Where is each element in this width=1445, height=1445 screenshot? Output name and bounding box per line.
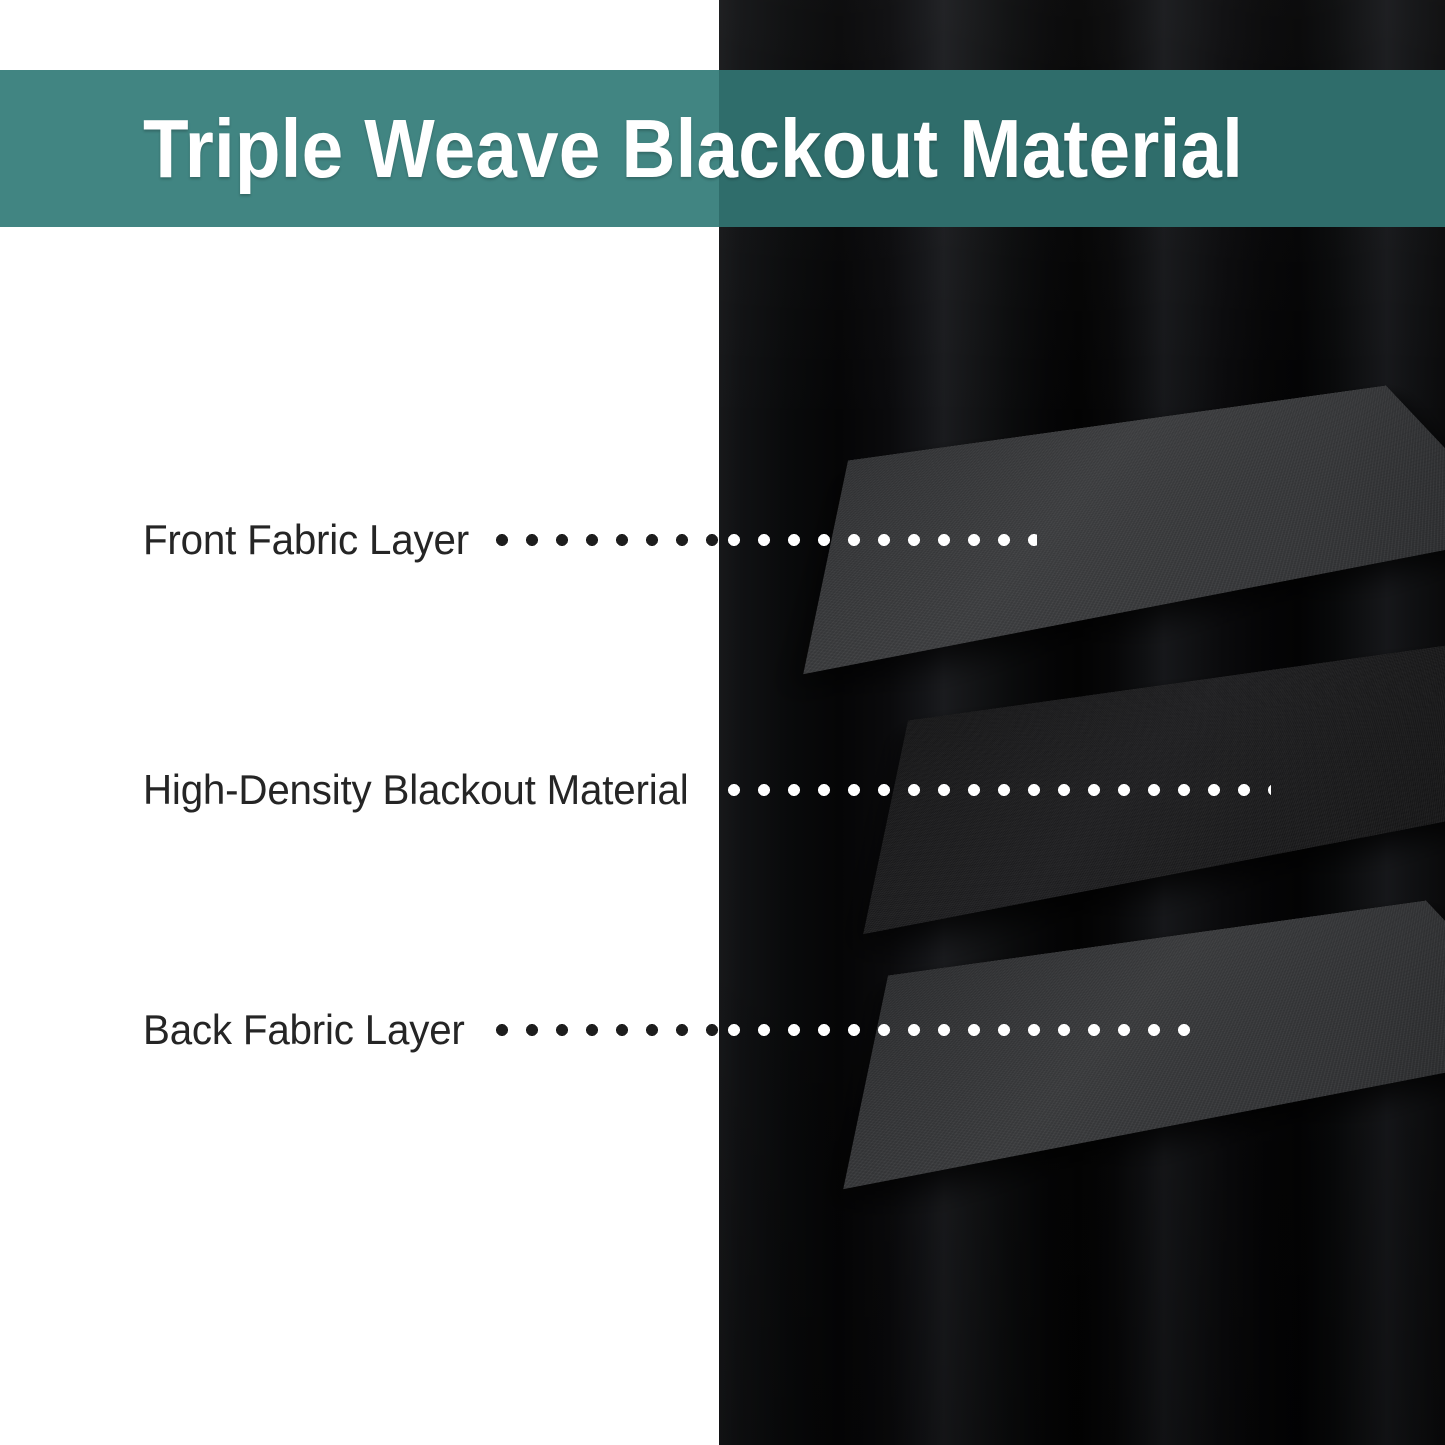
callout-row-back-fabric: Back Fabric Layer <box>0 1000 478 1060</box>
callout-label-blackout-material: High-Density Blackout Material <box>143 769 689 811</box>
callout-row-blackout-material: High-Density Blackout Material <box>0 760 711 820</box>
title-banner: Triple Weave Blackout Material <box>0 70 1445 227</box>
callout-row-front-fabric: Front Fabric Layer <box>0 510 483 570</box>
page-title: Triple Weave Blackout Material <box>143 107 1243 190</box>
product-infographic: Triple Weave Blackout Material Front Fab… <box>0 0 1445 1445</box>
callout-label-back-fabric: Back Fabric Layer <box>143 1009 465 1051</box>
leader-dots-front-light <box>719 534 1037 546</box>
leader-dots-middle-light <box>719 784 1271 796</box>
callout-label-front-fabric: Front Fabric Layer <box>143 519 469 561</box>
leader-dots-back-light <box>719 1024 1207 1036</box>
leader-dots-back-dark <box>487 1024 719 1036</box>
leader-dots-front-dark <box>487 534 719 546</box>
